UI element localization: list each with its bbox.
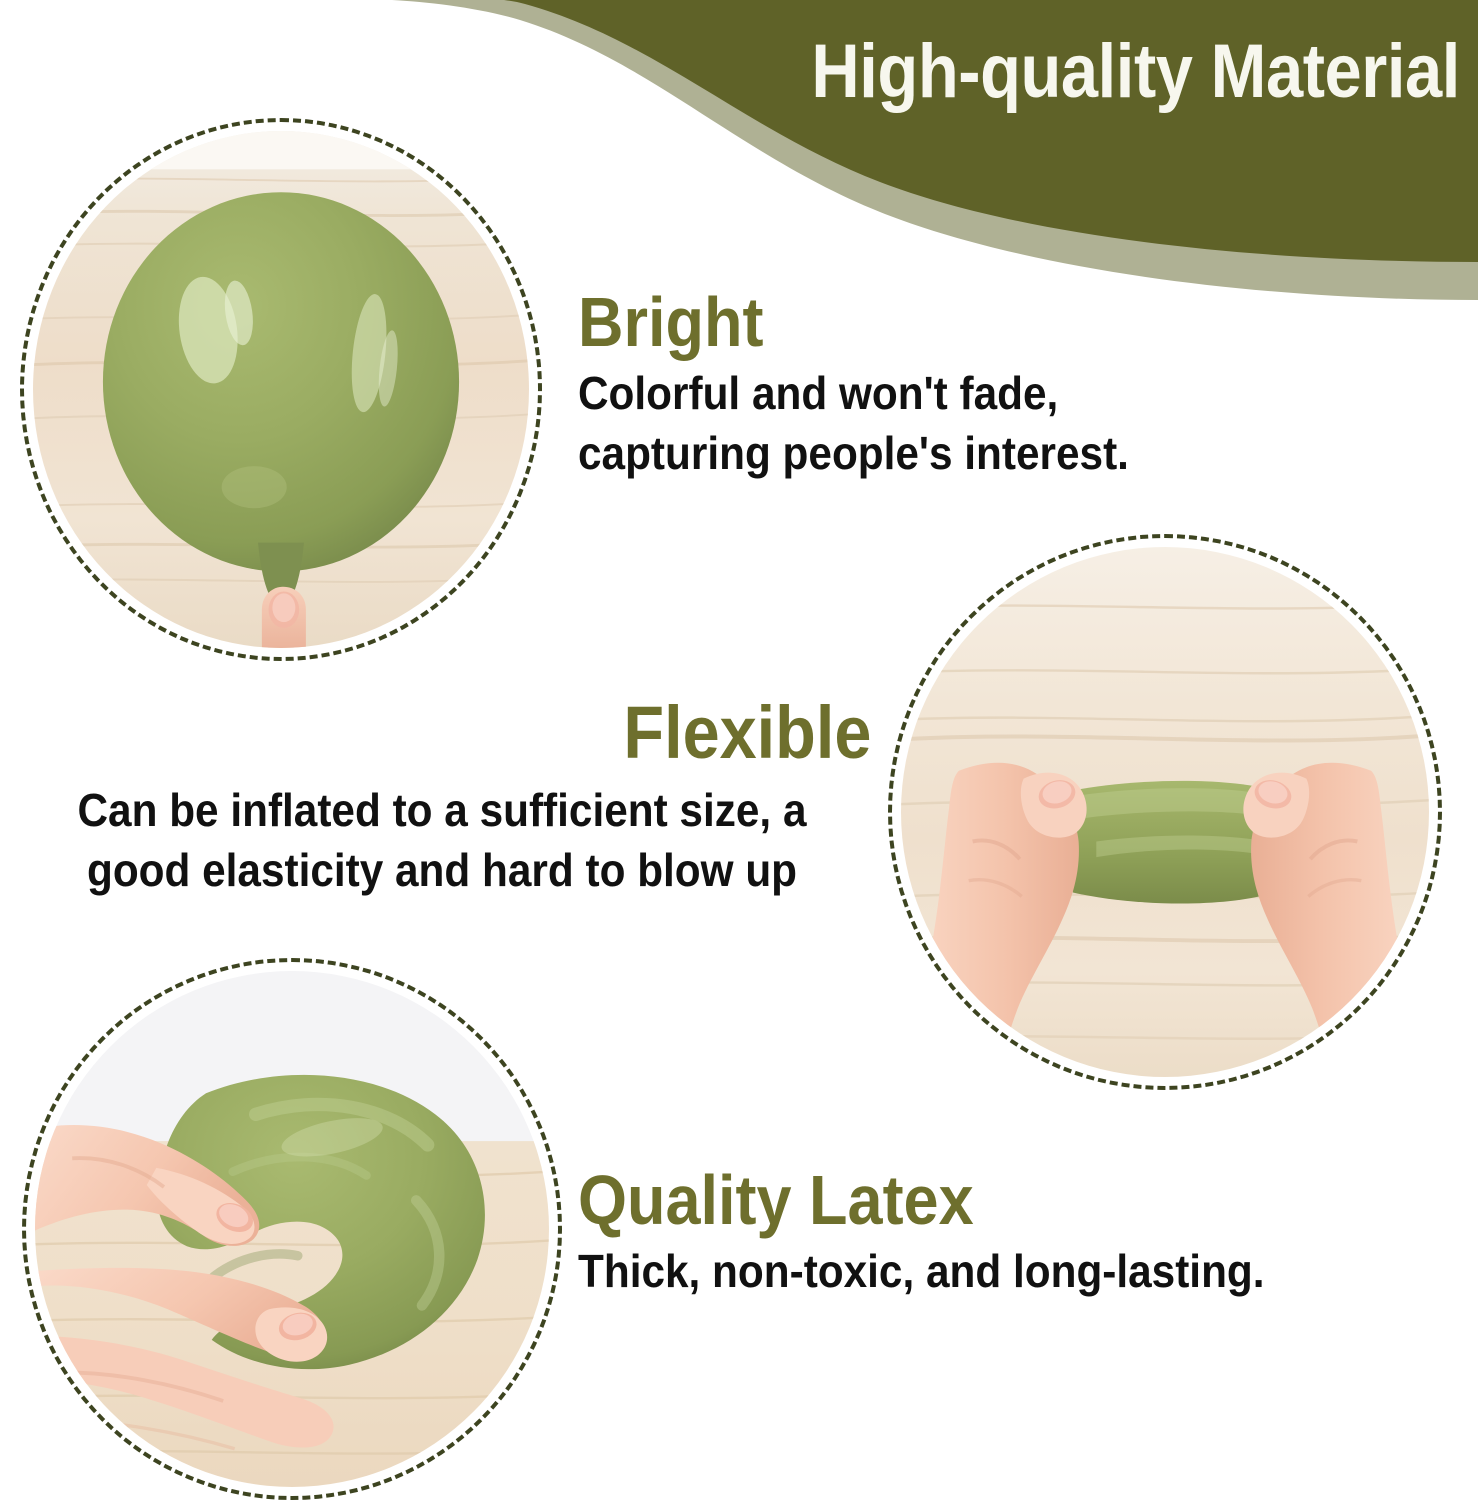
photo-inner-balloon xyxy=(33,131,529,648)
feature-block-quality-latex: Quality Latex Thick, non-toxic, and long… xyxy=(578,1160,1438,1302)
feature-body-line: Thick, non-toxic, and long-lasting. xyxy=(578,1242,1369,1302)
feature-heading-bright: Bright xyxy=(578,282,1208,362)
page-title: High-quality Material xyxy=(812,34,1460,110)
feature-heading-flexible: Flexible xyxy=(88,690,884,775)
feature-block-flexible: Flexible Can be inflated to a sufficient… xyxy=(0,690,884,901)
photo-inner-squish xyxy=(35,971,549,1487)
feature-heading-quality-latex: Quality Latex xyxy=(578,1160,1352,1240)
feature-body-line: capturing people's interest. xyxy=(578,424,1222,484)
feature-body-quality-latex: Thick, non-toxic, and long-lasting. xyxy=(578,1242,1369,1302)
feature-body-line: good elasticity and hard to blow up xyxy=(35,841,848,901)
balloon-photo-illustration xyxy=(33,131,529,648)
photo-hands-squishing-balloon xyxy=(22,958,562,1500)
feature-body-line: Colorful and won't fade, xyxy=(578,364,1222,424)
photo-hands-stretching-balloon xyxy=(888,534,1442,1090)
infographic-canvas: High-quality Material xyxy=(0,0,1478,1500)
feature-body-flexible: Can be inflated to a sufficient size, a … xyxy=(35,781,848,901)
stretch-photo-illustration xyxy=(901,547,1429,1077)
squish-photo-illustration xyxy=(35,971,549,1487)
feature-block-bright: Bright Colorful and won't fade, capturin… xyxy=(578,282,1278,484)
feature-body-line: Can be inflated to a sufficient size, a xyxy=(35,781,848,841)
feature-body-bright: Colorful and won't fade, capturing peopl… xyxy=(578,364,1222,484)
photo-inflated-balloon-on-wood xyxy=(20,118,542,661)
photo-inner-stretch xyxy=(901,547,1429,1077)
